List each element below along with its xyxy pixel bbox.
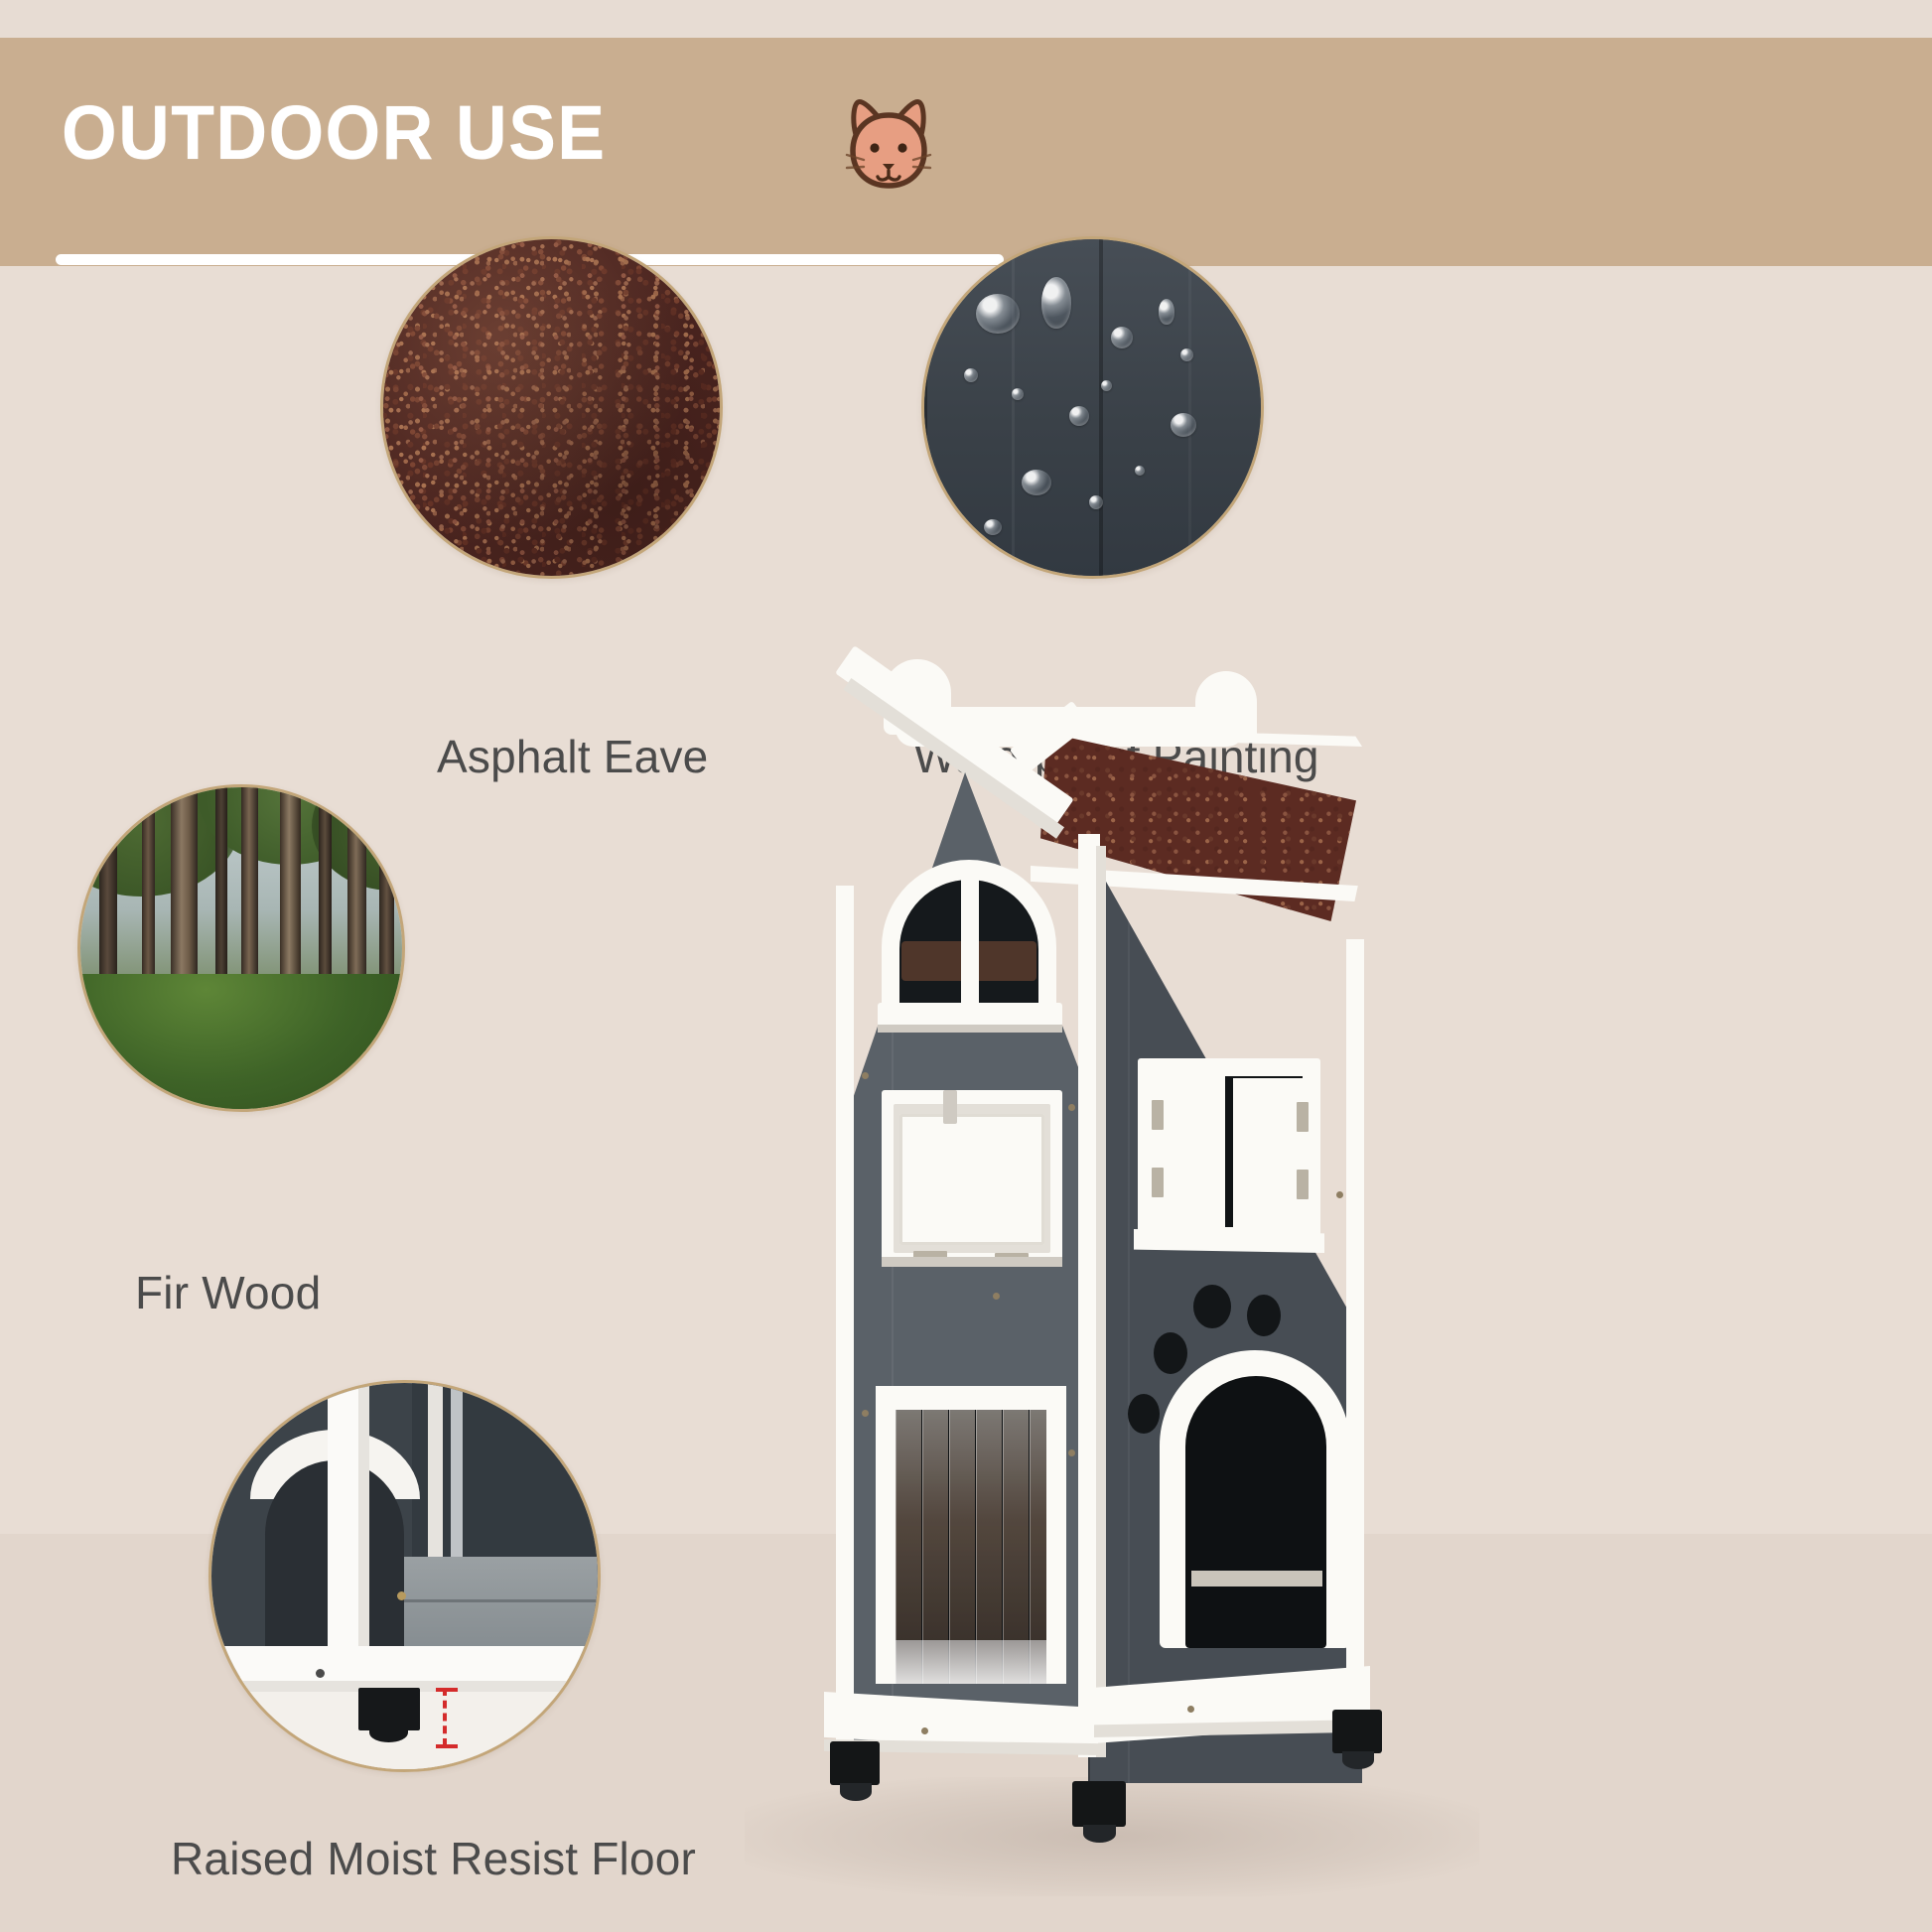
ventilation-hole bbox=[1128, 1394, 1160, 1434]
asphalt-eave-image bbox=[380, 236, 723, 579]
screw-head bbox=[862, 1072, 869, 1079]
asphalt-texture bbox=[383, 239, 720, 576]
rubber-foot bbox=[830, 1741, 880, 1785]
painted-wood-texture bbox=[924, 239, 1261, 576]
water-droplet bbox=[1089, 495, 1103, 509]
water-droplet bbox=[964, 368, 978, 382]
top-strip bbox=[0, 0, 1932, 38]
feature-fir-wood bbox=[77, 784, 405, 1112]
infographic-stage: OUTDOOR USE bbox=[0, 0, 1932, 1932]
screw-head bbox=[1336, 1191, 1343, 1198]
product-photo-cat-house bbox=[784, 655, 1440, 1886]
shutter-left-panel bbox=[1156, 1076, 1225, 1227]
water-droplet bbox=[1022, 470, 1051, 495]
raised-floor-scene bbox=[211, 1383, 598, 1769]
header-banner: OUTDOOR USE bbox=[0, 38, 1932, 266]
shutter-hinge bbox=[1297, 1102, 1309, 1132]
corner-post-shadow bbox=[358, 1383, 370, 1661]
page-title: OUTDOOR USE bbox=[62, 89, 606, 178]
water-droplet bbox=[1135, 466, 1145, 476]
caption-fir-wood: Fir Wood bbox=[135, 1266, 321, 1319]
water-droplet bbox=[984, 519, 1002, 535]
screw-head bbox=[921, 1727, 928, 1734]
waterproof-painting-image bbox=[921, 236, 1264, 579]
shutter-right-panel bbox=[1233, 1078, 1303, 1227]
ventilation-hole bbox=[1193, 1285, 1231, 1328]
rubber-foot-cap bbox=[1342, 1751, 1374, 1769]
pvc-strip-highlight bbox=[896, 1640, 1046, 1684]
interior-corner-post bbox=[451, 1383, 463, 1561]
interior-corner-post bbox=[428, 1383, 444, 1577]
height-measure-line bbox=[443, 1688, 447, 1745]
screw-head bbox=[862, 1410, 869, 1417]
feature-asphalt-eave bbox=[380, 236, 723, 579]
shutter-hinge bbox=[1152, 1168, 1164, 1197]
water-droplet bbox=[976, 294, 1020, 334]
measure-cap-bottom bbox=[436, 1744, 458, 1748]
measure-cap-top bbox=[436, 1688, 458, 1692]
corner-trim-shadow bbox=[1096, 846, 1106, 1757]
front-corner-post bbox=[328, 1383, 362, 1661]
shutter-hinge bbox=[1297, 1170, 1309, 1199]
flap-door-panel bbox=[899, 1114, 1044, 1245]
floorboard-seam bbox=[389, 1599, 598, 1602]
water-droplet bbox=[1171, 413, 1196, 437]
water-droplet bbox=[1159, 299, 1174, 325]
shutter-hinge bbox=[1152, 1100, 1164, 1130]
water-droplet bbox=[1111, 327, 1133, 348]
screw-head bbox=[397, 1591, 406, 1600]
window-sill-shadow bbox=[878, 1025, 1062, 1033]
screw-head bbox=[993, 1293, 1000, 1300]
flap-door-bottom-edge bbox=[882, 1257, 1062, 1267]
screw-head bbox=[1068, 1104, 1075, 1111]
left-edge-trim bbox=[836, 886, 854, 1759]
screw-head bbox=[1068, 1449, 1075, 1456]
forest-undergrowth bbox=[77, 974, 405, 1112]
rubber-foot-cap bbox=[840, 1783, 872, 1801]
screw-head bbox=[316, 1669, 325, 1678]
water-droplet bbox=[1101, 380, 1112, 391]
caption-asphalt-eave: Asphalt Eave bbox=[437, 730, 708, 783]
water-droplet bbox=[1180, 348, 1193, 361]
rubber-foot-cap bbox=[1083, 1825, 1116, 1843]
water-droplet bbox=[1041, 277, 1071, 329]
rubber-foot bbox=[1332, 1710, 1382, 1753]
ventilation-hole bbox=[1154, 1332, 1187, 1374]
caption-raised-floor: Raised Moist Resist Floor bbox=[171, 1832, 696, 1885]
cat-face-icon bbox=[834, 89, 943, 199]
interior-floorboard bbox=[381, 1557, 598, 1649]
feature-raised-floor bbox=[208, 1380, 601, 1772]
water-droplet bbox=[1069, 406, 1089, 426]
rubber-foot-cap bbox=[369, 1723, 408, 1741]
water-droplet bbox=[1012, 388, 1024, 400]
feature-waterproof-painting bbox=[921, 236, 1264, 579]
cat-entrance-cavity bbox=[1185, 1376, 1326, 1648]
forest-scene bbox=[80, 787, 402, 1109]
raised-floor-image bbox=[208, 1380, 601, 1772]
screw-head bbox=[1187, 1706, 1194, 1713]
cat-entrance-threshold bbox=[1191, 1571, 1322, 1587]
fir-wood-image bbox=[77, 784, 405, 1112]
window-sill bbox=[878, 1003, 1062, 1027]
rubber-foot bbox=[1072, 1781, 1126, 1827]
ventilation-hole bbox=[1247, 1295, 1281, 1336]
flap-door-latch bbox=[943, 1090, 957, 1124]
